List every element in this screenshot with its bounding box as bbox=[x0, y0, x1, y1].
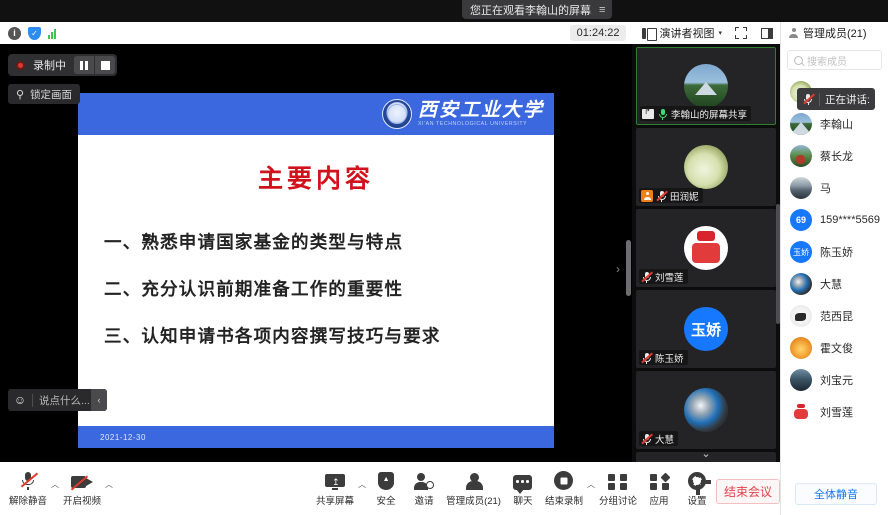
quick-chat-input[interactable]: ☺ 说点什么... ‹ bbox=[8, 389, 107, 411]
slide-header: 西安工业大学 XI'AN TECHNOLOGICAL UNIVERSITY bbox=[78, 93, 554, 135]
list-item[interactable]: 玉娇 陈玉娇 bbox=[781, 236, 888, 268]
watching-screen-banner: 您正在观看李翰山的屏幕 ≡ bbox=[462, 0, 612, 19]
participant-name: 范西昆 bbox=[820, 308, 853, 324]
share-screen-icon: ↥ bbox=[325, 470, 345, 490]
toggle-side-panel-button[interactable] bbox=[754, 22, 780, 44]
security-label: 安全 bbox=[377, 493, 396, 507]
list-item[interactable]: 霍文俊 bbox=[781, 332, 888, 364]
emoji-icon[interactable]: ☺ bbox=[8, 393, 32, 407]
avatar bbox=[684, 226, 728, 270]
signal-bars-icon[interactable] bbox=[48, 28, 56, 39]
slide-title: 主要内容 bbox=[78, 159, 554, 195]
zoom-meeting-window: 您正在观看李翰山的屏幕 ≡ i ✓ 01:24:22 演讲者视图 ▾ 管理 bbox=[0, 0, 888, 515]
avatar bbox=[684, 64, 728, 108]
stop-record-icon bbox=[554, 470, 573, 490]
mic-muted-icon bbox=[641, 433, 652, 445]
security-button[interactable]: 安全 bbox=[367, 470, 405, 507]
pin-screen-button[interactable]: ⚲ 锁定画面 bbox=[8, 84, 80, 104]
list-item[interactable]: 马 bbox=[781, 172, 888, 204]
presentation-slide: 西安工业大学 XI'AN TECHNOLOGICAL UNIVERSITY 主要… bbox=[78, 93, 554, 448]
university-name-cn: 西安工业大学 bbox=[418, 101, 544, 120]
participant-name: 刘雪莲 bbox=[655, 270, 684, 284]
participant-name: 陈玉娇 bbox=[820, 244, 853, 260]
apps-label: 应用 bbox=[649, 493, 668, 507]
video-thumbnail[interactable]: 玉娇 陈玉娇 bbox=[636, 290, 776, 368]
top-bar-right-controls: 01:24:22 演讲者视图 ▾ 管理成员(21) bbox=[570, 22, 888, 44]
chat-placeholder: 说点什么... bbox=[33, 393, 91, 408]
list-item[interactable]: 范西昆 bbox=[781, 300, 888, 332]
avatar bbox=[790, 305, 812, 327]
chat-button[interactable]: 聊天 bbox=[504, 470, 542, 507]
participant-name: 李翰山 bbox=[820, 116, 853, 132]
slide-bullet-list: 一、熟悉申请国家基金的类型与特点 二、充分认识前期准备工作的重要性 三、认知申请… bbox=[78, 229, 554, 348]
chevron-down-icon[interactable]: ⌄ bbox=[701, 447, 710, 460]
participant-name: 大慧 bbox=[655, 432, 674, 446]
breakout-rooms-icon bbox=[608, 470, 627, 490]
pause-icon bbox=[80, 61, 88, 70]
avatar bbox=[790, 113, 812, 135]
list-item[interactable]: 大慧 bbox=[781, 268, 888, 300]
university-seal-icon bbox=[382, 99, 412, 129]
security-shield-icon bbox=[378, 470, 394, 490]
breakout-rooms-button[interactable]: 分组讨论 bbox=[596, 470, 640, 507]
participant-name: 霍文俊 bbox=[820, 340, 853, 356]
view-mode-selector[interactable]: 演讲者视图 ▾ bbox=[636, 25, 728, 41]
participant-name: 刘雪莲 bbox=[820, 404, 853, 420]
stop-recording-button[interactable] bbox=[95, 56, 115, 74]
chevron-down-icon: ▾ bbox=[718, 29, 722, 37]
unmute-button[interactable]: 解除静音 bbox=[6, 470, 50, 507]
meeting-timer: 01:24:22 bbox=[570, 25, 627, 41]
shield-icon[interactable]: ✓ bbox=[28, 27, 41, 40]
top-bar: i ✓ 01:24:22 演讲者视图 ▾ 管理成员(21) bbox=[0, 22, 888, 44]
slide-body: 主要内容 一、熟悉申请国家基金的类型与特点 二、充分认识前期准备工作的重要性 三… bbox=[78, 135, 554, 426]
stage-scrollbar[interactable] bbox=[626, 240, 631, 296]
video-thumbnail[interactable]: 刘雪莲 bbox=[636, 209, 776, 287]
record-options-chevron-icon[interactable]: ︿ bbox=[587, 479, 595, 490]
search-icon bbox=[794, 56, 803, 65]
watching-screen-text: 您正在观看李翰山的屏幕 bbox=[470, 2, 591, 18]
settings-label: 设置 bbox=[687, 493, 706, 507]
participant-name: 陈玉娇 bbox=[655, 351, 684, 365]
person-icon bbox=[788, 28, 799, 39]
share-screen-button[interactable]: ↥ 共享屏幕 bbox=[313, 470, 357, 507]
thumbnail-label: 刘雪莲 bbox=[639, 269, 688, 284]
participants-panel-title: 管理成员(21) bbox=[803, 25, 867, 41]
gear-icon bbox=[688, 470, 706, 490]
search-placeholder: 搜索成员 bbox=[807, 53, 847, 68]
list-item[interactable]: 刘雪莲 bbox=[781, 396, 888, 428]
participant-name: 田润妮 bbox=[670, 189, 699, 203]
audio-options-chevron-icon[interactable]: ︿ bbox=[51, 479, 59, 490]
participant-name: 大慧 bbox=[820, 276, 842, 292]
invite-label: 邀请 bbox=[415, 493, 434, 507]
shared-screen-stage: 录制中 ⚲ 锁定画面 西安工业大学 XI'AN TECHNOLOGICAL UN… bbox=[0, 44, 632, 462]
breakout-rooms-label: 分组讨论 bbox=[599, 493, 637, 507]
avatar bbox=[790, 369, 812, 391]
avatar bbox=[790, 337, 812, 359]
video-filmstrip: 李翰山的屏幕共享 田润妮 刘雪莲 玉娇 陈玉娇 bbox=[632, 44, 780, 462]
avatar: 69 bbox=[790, 209, 812, 231]
participant-name: 刘宝元 bbox=[820, 372, 853, 388]
apps-icon bbox=[650, 470, 669, 490]
participants-panel: 搜索成员 李翰山 蔡长龙 马 69 159****5569 bbox=[780, 44, 888, 515]
mic-muted-icon bbox=[641, 352, 652, 364]
avatar bbox=[684, 145, 728, 189]
participant-name: 蔡长龙 bbox=[820, 148, 853, 164]
host-icon bbox=[641, 190, 653, 202]
video-thumbnail[interactable]: 大慧 bbox=[636, 371, 776, 449]
chat-collapse-button[interactable]: ‹ bbox=[91, 389, 107, 411]
slide-bullet-item: 二、充分认识前期准备工作的重要性 bbox=[104, 276, 554, 301]
start-video-label: 开启视频 bbox=[63, 493, 101, 507]
fullscreen-button[interactable] bbox=[728, 22, 754, 44]
end-meeting-button[interactable]: 结束会议 bbox=[716, 479, 780, 504]
speaking-tooltip: 正在讲话: bbox=[797, 88, 875, 110]
recording-dot-icon bbox=[16, 61, 25, 70]
share-screen-label: 共享屏幕 bbox=[316, 493, 354, 507]
pause-recording-button[interactable] bbox=[74, 56, 94, 74]
mic-muted-icon bbox=[797, 93, 819, 105]
apps-button[interactable]: 应用 bbox=[640, 470, 678, 507]
university-name-block: 西安工业大学 XI'AN TECHNOLOGICAL UNIVERSITY bbox=[418, 101, 544, 127]
list-item[interactable]: 69 159****5569 bbox=[781, 204, 888, 236]
slide-date: 2021-12-30 bbox=[100, 433, 146, 442]
recording-indicator: 录制中 bbox=[8, 54, 117, 76]
side-panel-icon bbox=[761, 28, 773, 39]
invite-button[interactable]: 邀请 bbox=[405, 470, 443, 507]
avatar: 玉娇 bbox=[790, 241, 812, 263]
participant-name: 李翰山的屏幕共享 bbox=[671, 107, 747, 121]
share-options-chevron-icon[interactable]: ︿ bbox=[358, 479, 366, 490]
avatar bbox=[790, 401, 812, 423]
mute-all-button[interactable]: 全体静音 bbox=[795, 483, 877, 505]
avatar bbox=[790, 145, 812, 167]
manage-participants-button[interactable]: 管理成员(21) bbox=[443, 470, 504, 507]
participant-name: 马 bbox=[820, 180, 831, 196]
share-icon bbox=[642, 109, 654, 119]
participant-list: 李翰山 蔡长龙 马 69 159****5569 玉娇 陈玉娇 大慧 bbox=[781, 76, 888, 471]
slide-bullet-item: 一、熟悉申请国家基金的类型与特点 bbox=[104, 229, 554, 254]
next-page-arrow-icon[interactable]: › bbox=[616, 262, 620, 276]
video-options-chevron-icon[interactable]: ︿ bbox=[105, 479, 113, 490]
avatar bbox=[790, 177, 812, 199]
list-item[interactable]: 刘宝元 bbox=[781, 364, 888, 396]
recording-label: 录制中 bbox=[33, 57, 66, 73]
list-item[interactable]: 蔡长龙 bbox=[781, 140, 888, 172]
speaker-view-icon bbox=[642, 28, 655, 39]
university-branding: 西安工业大学 XI'AN TECHNOLOGICAL UNIVERSITY bbox=[382, 99, 544, 129]
start-video-button[interactable]: 开启视频 bbox=[60, 470, 104, 507]
fullscreen-icon bbox=[735, 27, 747, 39]
avatar bbox=[684, 388, 728, 432]
list-item[interactable]: 李翰山 bbox=[781, 108, 888, 140]
slide-footer: 2021-12-30 bbox=[78, 426, 554, 448]
stop-icon bbox=[101, 61, 110, 70]
mic-glyph bbox=[803, 93, 814, 105]
view-mode-label: 演讲者视图 bbox=[659, 25, 714, 41]
thumbnail-label: 田润妮 bbox=[639, 188, 703, 203]
pin-screen-label: 锁定画面 bbox=[30, 87, 72, 102]
video-thumbnail[interactable]: 田润妮 bbox=[636, 128, 776, 206]
pin-icon: ⚲ bbox=[16, 88, 24, 101]
top-bar-left-icons: i ✓ bbox=[0, 27, 56, 40]
participant-name: 159****5569 bbox=[820, 214, 880, 226]
chat-bubble-icon bbox=[513, 470, 532, 490]
stop-recording-button[interactable]: 结束录制 bbox=[542, 470, 586, 507]
menu-lines-icon[interactable]: ≡ bbox=[599, 4, 604, 16]
info-icon[interactable]: i bbox=[8, 27, 21, 40]
unmute-label: 解除静音 bbox=[9, 493, 47, 507]
thumbnail-label: 李翰山的屏幕共享 bbox=[640, 106, 751, 121]
meeting-toolbar: 解除静音 ︿ 开启视频 ︿ ↥ 共享屏幕 ︿ 安全 邀请 bbox=[0, 462, 780, 515]
mic-muted-icon bbox=[656, 190, 667, 202]
thumbnail-label: 大慧 bbox=[639, 431, 678, 446]
mic-muted-icon bbox=[641, 271, 652, 283]
participants-icon bbox=[465, 470, 483, 490]
camera-off-icon bbox=[71, 470, 93, 490]
participants-panel-header: 管理成员(21) bbox=[780, 22, 888, 44]
thumbnail-label: 陈玉娇 bbox=[639, 350, 688, 365]
avatar: 玉娇 bbox=[684, 307, 728, 351]
slide-bullet-item: 三、认知申请书各项内容撰写技巧与要求 bbox=[104, 323, 554, 348]
mic-muted-icon bbox=[21, 470, 36, 490]
search-input[interactable]: 搜索成员 bbox=[787, 50, 882, 70]
avatar bbox=[790, 273, 812, 295]
mic-icon bbox=[657, 108, 668, 120]
stop-recording-label: 结束录制 bbox=[545, 493, 583, 507]
manage-participants-label: 管理成员(21) bbox=[446, 493, 501, 507]
settings-button[interactable]: 设置 bbox=[678, 470, 716, 507]
speaking-tooltip-text: 正在讲话: bbox=[820, 92, 875, 107]
chat-label: 聊天 bbox=[513, 493, 532, 507]
video-thumbnail[interactable]: 李翰山的屏幕共享 bbox=[636, 47, 776, 125]
university-name-en: XI'AN TECHNOLOGICAL UNIVERSITY bbox=[418, 122, 527, 127]
invite-person-icon bbox=[414, 470, 434, 490]
